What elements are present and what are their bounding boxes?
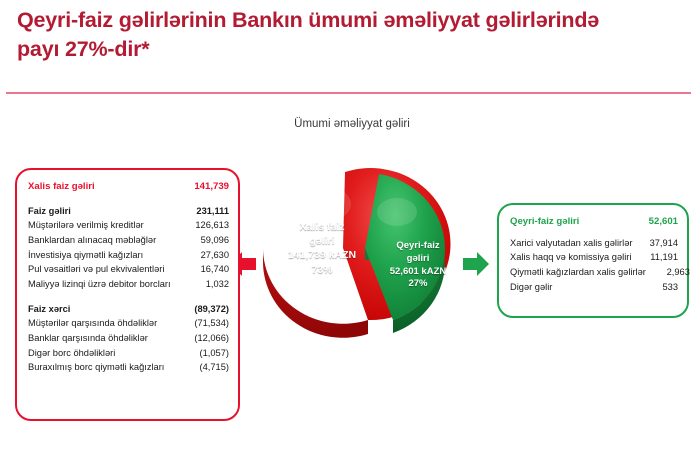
row-value: (12,066) [175, 334, 229, 343]
left-panel-header-row: Xalis faiz gəliri 141,739 [28, 179, 229, 194]
slide-root: Qeyri-faiz gəlirlərinin Bankın ümumi əmə… [0, 0, 700, 458]
chart-title: Ümumi əməliyyat gəliri [262, 118, 442, 130]
interest-expense-total-row: Faiz xərci (89,372) [28, 302, 229, 317]
row-value: 2,963 [646, 268, 690, 277]
row-value: 16,740 [175, 265, 229, 274]
pie-chart: Xalis faiz gəliri 141,739 kAZN 73% Qeyri… [255, 152, 455, 347]
row-value: 27,630 [175, 251, 229, 260]
right-panel-rows: Qeyri-faiz gəliri 52,601 Xarici valyutad… [499, 205, 687, 295]
row-value: 533 [634, 283, 678, 292]
table-row: Xalis haqq və komissiya gəliri 11,191 [510, 251, 678, 266]
row-label: Qiymətli kağızlardan xalis gəlirlər [510, 268, 646, 277]
non-interest-income-panel: Qeyri-faiz gəliri 52,601 Xarici valyutad… [497, 203, 689, 318]
row-label: Maliyyə lizinqi üzrə debitor borcları [28, 280, 175, 289]
table-row: Digər borc öhdəlikləri (1,057) [28, 346, 229, 361]
row-label: Pul vəsaitləri və pul ekvivalentləri [28, 265, 175, 274]
right-panel-header-row: Qeyri-faiz gəliri 52,601 [510, 214, 678, 229]
row-value: 126,613 [175, 221, 229, 230]
title-divider [6, 92, 691, 94]
row-value: 1,032 [175, 280, 229, 289]
table-row: Maliyyə lizinqi üzrə debitor borcları 1,… [28, 277, 229, 292]
table-row: Buraxılmış borc qiymətli kağızları (4,71… [28, 361, 229, 376]
interest-income-total-value: 231,111 [175, 207, 229, 216]
spacer [510, 229, 678, 236]
spacer [28, 194, 229, 204]
row-value: 59,096 [175, 236, 229, 245]
row-label: Xalis haqq və komissiya gəliri [510, 253, 634, 262]
row-label: Digər gəlir [510, 283, 634, 292]
right-panel-header-label: Qeyri-faiz gəliri [510, 217, 634, 227]
interest-income-total-label: Faiz gəliri [28, 207, 175, 216]
right-panel-header-value: 52,601 [634, 217, 678, 227]
table-row: Müştərilərə verilmiş kreditlər 126,613 [28, 219, 229, 234]
row-value: 37,914 [634, 239, 678, 248]
row-value: (4,715) [175, 363, 229, 372]
pie-chart-svg [255, 152, 455, 347]
row-label: Banklar qarşısında öhdəliklər [28, 334, 175, 343]
table-row: Banklar qarşısında öhdəliklər (12,066) [28, 331, 229, 346]
table-row: İnvestisiya qiymətli kağızları 27,630 [28, 248, 229, 263]
row-label: İnvestisiya qiymətli kağızları [28, 251, 175, 260]
page-title: Qeyri-faiz gəlirlərinin Bankın ümumi əmə… [17, 6, 647, 64]
row-label: Buraxılmış borc qiymətli kağızları [28, 363, 175, 372]
row-label: Digər borc öhdəlikləri [28, 349, 175, 358]
row-label: Banklardan alınacaq məbləğlər [28, 236, 175, 245]
table-row: Xarici valyutadan xalis gəlirlər 37,914 [510, 236, 678, 251]
arrow-right-icon [461, 249, 491, 279]
interest-expense-total-label: Faiz xərci [28, 305, 175, 314]
table-row: Pul vəsaitləri və pul ekvivalentləri 16,… [28, 263, 229, 278]
row-label: Müştərilər qarşısında öhdəliklər [28, 319, 175, 328]
row-value: (1,057) [175, 349, 229, 358]
row-value: (71,534) [175, 319, 229, 328]
table-row: Müştərilər qarşısında öhdəliklər (71,534… [28, 317, 229, 332]
net-interest-income-panel: Xalis faiz gəliri 141,739 Faiz gəliri 23… [15, 168, 240, 421]
row-label: Müştərilərə verilmiş kreditlər [28, 221, 175, 230]
left-panel-rows: Xalis faiz gəliri 141,739 Faiz gəliri 23… [17, 170, 238, 375]
spacer [28, 292, 229, 302]
table-row: Banklardan alınacaq məbləğlər 59,096 [28, 233, 229, 248]
row-label: Xarici valyutadan xalis gəlirlər [510, 239, 634, 248]
left-panel-header-label: Xalis faiz gəliri [28, 182, 175, 192]
table-row: Qiymətli kağızlardan xalis gəlirlər 2,96… [510, 265, 678, 280]
row-value: 11,191 [634, 253, 678, 262]
interest-income-total-row: Faiz gəliri 231,111 [28, 204, 229, 219]
table-row: Digər gəlir 533 [510, 280, 678, 295]
interest-expense-total-value: (89,372) [175, 305, 229, 314]
left-panel-header-value: 141,739 [175, 182, 229, 192]
